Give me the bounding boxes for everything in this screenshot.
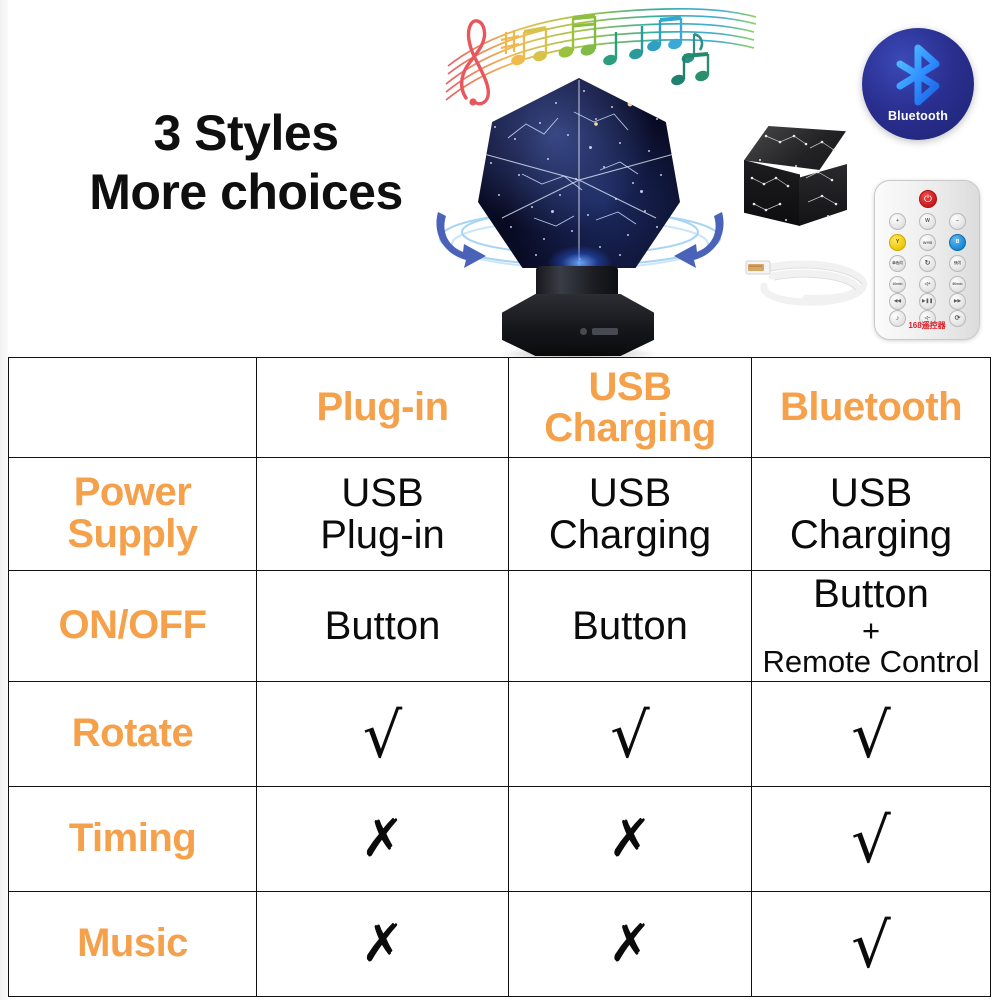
constellation-gift-box-icon [736,126,854,231]
bluetooth-badge: Bluetooth [862,28,974,140]
remote-rotate-button: ↻ [919,255,936,272]
remote-minus-button: − [949,213,966,230]
column-header-plugin: Plug-in [257,358,509,458]
remote-previous-button: ◀◀ [889,293,906,310]
cell-onoff-bluetooth-line2: + [756,615,986,646]
row-label-power-supply-line2: Supply [13,514,252,556]
lamp-usb-port [592,328,618,335]
lamp-power-jack [580,328,587,335]
cell-power-plugin: USB Plug-in [257,458,509,571]
remote-control-icon: ⏻ + W − Y WYB B 单色闪 ↻ 快闪 10min ◁+ 60min … [874,180,980,340]
headline-line-2: More choices [46,163,446,222]
row-label-music: Music [9,891,257,996]
cross-mark-icon: ✗ [608,813,652,865]
remote-timer-60min-button: 60min [949,276,966,293]
bluetooth-badge-label: Bluetooth [862,109,974,123]
cross-mark-icon: ✗ [361,813,405,865]
remote-blue-button: B [949,234,966,251]
star-projector-lamp-icon [452,78,702,358]
cell-timing-plugin: ✗ [257,786,509,891]
table-row: Power Supply USB Plug-in USB Charging US… [9,458,991,571]
row-label-timing: Timing [9,786,257,891]
column-header-usb-charging: USB Charging [509,358,752,458]
row-label-power-supply: Power Supply [9,458,257,571]
remote-wyb-button: WYB [919,234,936,251]
cell-power-usb-charging-line1: USB [513,472,747,514]
table-row: Rotate √ √ √ [9,681,991,786]
cell-onoff-usb-charging: Button [509,571,752,682]
cell-rotate-plugin: √ [257,681,509,786]
table-row: ON/OFF Button Button Button + Remote Con… [9,571,991,682]
table-corner-cell [9,358,257,458]
cell-music-usb-charging: ✗ [509,891,752,996]
cell-rotate-usb-charging: √ [509,681,752,786]
cell-timing-usb-charging: ✗ [509,786,752,891]
row-label-on-off: ON/OFF [9,571,257,682]
comparison-table: Plug-in USB Charging Bluetooth Power Sup… [8,357,991,997]
remote-yellow-button: Y [889,234,906,251]
check-mark-icon: √ [610,705,650,767]
table-row: Timing ✗ ✗ √ [9,786,991,891]
cell-timing-bluetooth: √ [752,786,991,891]
cross-mark-icon: ✗ [608,918,652,970]
row-label-power-supply-line1: Power [13,472,252,514]
remote-timer-10min-button: 10min [889,276,906,293]
cell-onoff-bluetooth: Button + Remote Control [752,571,991,682]
usb-cable-icon [744,246,878,312]
remote-model-label: 168遥控器 [875,320,979,331]
cell-power-usb-charging: USB Charging [509,458,752,571]
remote-play-pause-button: ▶❚❚ [919,293,936,310]
row-label-rotate: Rotate [9,681,257,786]
check-mark-icon: √ [363,705,403,767]
remote-plus-button: + [889,213,906,230]
cell-power-bluetooth-line2: Charging [756,514,986,556]
cell-rotate-bluetooth: √ [752,681,991,786]
column-header-bluetooth: Bluetooth [752,358,991,458]
check-mark-icon: √ [851,915,891,977]
remote-white-button: W [919,213,936,230]
cross-mark-icon: ✗ [361,918,405,970]
remote-speed-button: 快闪 [949,255,966,272]
remote-mode-button: 单色闪 [889,255,906,272]
cell-onoff-bluetooth-line3: Remote Control [756,646,986,679]
cell-power-bluetooth: USB Charging [752,458,991,571]
column-header-usb-charging-line1: USB [513,367,747,408]
headline-line-1: 3 Styles [46,104,446,163]
bluetooth-icon [890,44,946,106]
column-header-usb-charging-line2: Charging [513,408,747,449]
cell-onoff-plugin: Button [257,571,509,682]
cell-power-plugin-line2: Plug-in [261,514,504,556]
remote-power-button: ⏻ [919,190,937,208]
cell-music-plugin: ✗ [257,891,509,996]
cell-power-plugin-line1: USB [261,472,504,514]
page-title: 3 Styles More choices [46,104,446,222]
remote-volume-up-button: ◁+ [919,276,936,293]
cell-music-bluetooth: √ [752,891,991,996]
hero-section: 3 Styles More choices [0,0,1000,357]
product-comparison-page: 3 Styles More choices [0,0,1000,1000]
check-mark-icon: √ [851,705,891,767]
remote-next-button: ▶▶ [949,293,966,310]
check-mark-icon: √ [851,810,891,872]
table-row: Music ✗ ✗ √ [9,891,991,996]
table-header-row: Plug-in USB Charging Bluetooth [9,358,991,458]
cell-onoff-bluetooth-line1: Button [756,573,986,615]
cell-power-bluetooth-line1: USB [756,472,986,514]
cell-power-usb-charging-line2: Charging [513,514,747,556]
